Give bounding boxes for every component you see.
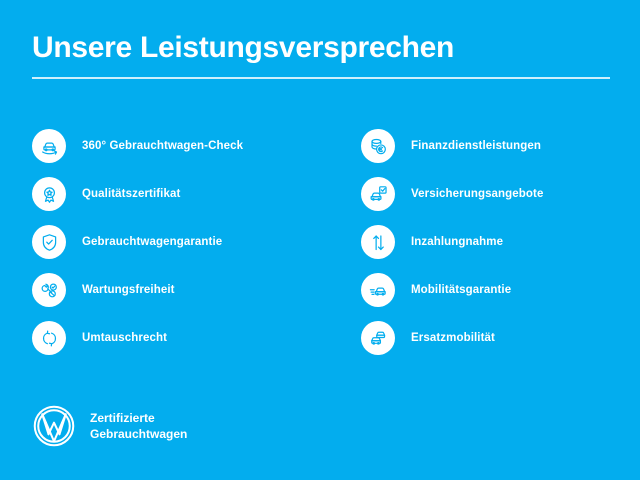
- title-divider: [32, 77, 610, 79]
- car-document-check-icon: [361, 177, 395, 211]
- benefit-item-gebrauchtwagen-check[interactable]: 360° Gebrauchtwagen-Check: [32, 122, 320, 170]
- benefit-item-ersatzmobilitaet[interactable]: Ersatzmobilität: [361, 314, 640, 362]
- benefit-label: Umtauschrecht: [82, 331, 167, 345]
- coins-euro-icon: [361, 129, 395, 163]
- benefit-item-versicherungsangebote[interactable]: Versicherungsangebote: [361, 170, 640, 218]
- benefit-label: Gebrauchtwagengarantie: [82, 235, 222, 249]
- slide-root: Unsere Leistungsversprechen: [0, 0, 640, 480]
- benefits-column-left: 360° Gebrauchtwagen-Check Qualitätszerti…: [0, 122, 320, 362]
- two-cars-icon: [361, 321, 395, 355]
- benefit-label: Inzahlungnahme: [411, 235, 503, 249]
- benefit-item-finanzdienstleistungen[interactable]: Finanzdienstleistungen: [361, 122, 640, 170]
- benefit-item-mobilitaetsgarantie[interactable]: Mobilitätsgarantie: [361, 266, 640, 314]
- page-title: Unsere Leistungsversprechen: [32, 30, 612, 66]
- benefit-label: Finanzdienstleistungen: [411, 139, 541, 153]
- vw-logo-icon: [32, 404, 76, 448]
- benefit-label: Mobilitätsgarantie: [411, 283, 511, 297]
- benefit-label: Qualitätszertifikat: [82, 187, 180, 201]
- car-motion-icon: [361, 273, 395, 307]
- exchange-arrows-icon: [32, 321, 66, 355]
- benefit-item-gebrauchtwagengarantie[interactable]: Gebrauchtwagengarantie: [32, 218, 320, 266]
- brand-lockup: Zertifizierte Gebrauchtwagen: [32, 404, 187, 448]
- car-360-check-icon: [32, 129, 66, 163]
- benefit-label: Ersatzmobilität: [411, 331, 495, 345]
- benefit-item-umtauschrecht[interactable]: Umtauschrecht: [32, 314, 320, 362]
- benefits-column-right: Finanzdienstleistungen Versicherungsange…: [320, 122, 640, 362]
- benefit-label: Wartungsfreiheit: [82, 283, 175, 297]
- benefit-item-qualitaetszertifikat[interactable]: Qualitätszertifikat: [32, 170, 320, 218]
- benefit-item-wartungsfreiheit[interactable]: Wartungsfreiheit: [32, 266, 320, 314]
- brand-text: Zertifizierte Gebrauchtwagen: [90, 410, 187, 442]
- arrows-up-down-icon: [361, 225, 395, 259]
- benefits-grid: 360° Gebrauchtwagen-Check Qualitätszerti…: [0, 122, 640, 362]
- header: Unsere Leistungsversprechen: [32, 30, 612, 79]
- award-medal-star-icon: [32, 177, 66, 211]
- benefit-label: Versicherungsangebote: [411, 187, 543, 201]
- benefit-item-inzahlungnahme[interactable]: Inzahlungnahme: [361, 218, 640, 266]
- wrench-check-icon: [32, 273, 66, 307]
- shield-check-icon: [32, 225, 66, 259]
- benefit-label: 360° Gebrauchtwagen-Check: [82, 139, 243, 153]
